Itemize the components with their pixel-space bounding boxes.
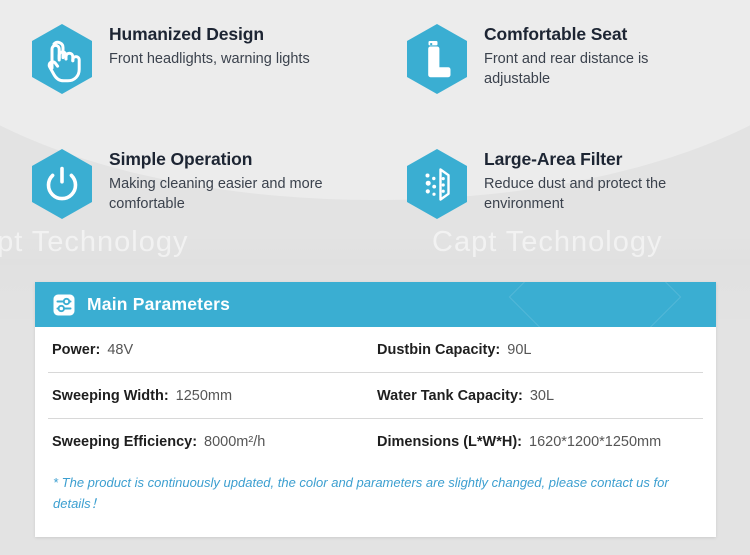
feature-title: Humanized Design xyxy=(109,24,310,46)
param-cell-dimensions: Dimensions (L*W*H): 1620*1200*1250mm xyxy=(373,434,703,450)
feature-description: Front and rear distance is adjustable xyxy=(484,49,699,90)
header-decoration xyxy=(509,282,682,327)
param-label: Water Tank Capacity: xyxy=(377,388,523,404)
feature-text: Comfortable Seat Front and rear distance… xyxy=(484,22,699,90)
feature-title: Large-Area Filter xyxy=(484,149,699,171)
param-value: 1620*1200*1250mm xyxy=(529,434,661,450)
param-value: 48V xyxy=(107,342,133,358)
feature-text: Humanized Design Front headlights, warni… xyxy=(109,22,310,69)
feature-grid: Humanized Design Front headlights, warni… xyxy=(0,0,750,250)
feature-title: Simple Operation xyxy=(109,149,324,171)
param-label: Dustbin Capacity: xyxy=(377,342,500,358)
feature-text: Large-Area Filter Reduce dust and protec… xyxy=(484,147,699,215)
feature-description: Reduce dust and protect the environment xyxy=(484,174,699,215)
param-value: 8000m²/h xyxy=(204,434,265,450)
main-parameters-title: Main Parameters xyxy=(87,294,230,315)
table-row: Sweeping Efficiency: 8000m²/h Dimensions… xyxy=(48,419,703,464)
param-cell-sweeping-width: Sweeping Width: 1250mm xyxy=(48,388,373,404)
sliders-icon xyxy=(52,293,76,317)
feature-card-comfortable-seat: Comfortable Seat Front and rear distance… xyxy=(375,0,750,125)
param-cell-power: Power: 48V xyxy=(48,342,373,358)
feature-description: Front headlights, warning lights xyxy=(109,49,310,70)
parameters-note: * The product is continuously updated, t… xyxy=(35,464,716,515)
table-row: Sweeping Width: 1250mm Water Tank Capaci… xyxy=(48,373,703,419)
param-label: Power: xyxy=(52,342,100,358)
feature-card-humanized-design: Humanized Design Front headlights, warni… xyxy=(0,0,375,125)
feature-card-simple-operation: Simple Operation Making cleaning easier … xyxy=(0,125,375,250)
param-label: Dimensions (L*W*H): xyxy=(377,434,522,450)
main-parameters-header: Main Parameters xyxy=(35,282,716,327)
feature-description: Making cleaning easier and more comforta… xyxy=(109,174,324,215)
param-cell-water-tank-capacity: Water Tank Capacity: 30L xyxy=(373,388,703,404)
param-value: 30L xyxy=(530,388,554,404)
power-button-icon xyxy=(28,147,96,221)
table-row: Power: 48V Dustbin Capacity: 90L xyxy=(48,327,703,373)
param-label: Sweeping Width: xyxy=(52,388,169,404)
feature-text: Simple Operation Making cleaning easier … xyxy=(109,147,324,215)
hand-touch-icon xyxy=(28,22,96,96)
seat-icon xyxy=(403,22,471,96)
main-parameters-panel: Main Parameters Power: 48V Dustbin Capac… xyxy=(35,282,716,537)
param-label: Sweeping Efficiency: xyxy=(52,434,197,450)
feature-title: Comfortable Seat xyxy=(484,24,699,46)
main-parameters-body: Power: 48V Dustbin Capacity: 90L Sweepin… xyxy=(35,327,716,464)
param-value: 90L xyxy=(507,342,531,358)
param-cell-sweeping-efficiency: Sweeping Efficiency: 8000m²/h xyxy=(48,434,373,450)
param-cell-dustbin-capacity: Dustbin Capacity: 90L xyxy=(373,342,703,358)
feature-card-large-area-filter: Large-Area Filter Reduce dust and protec… xyxy=(375,125,750,250)
param-value: 1250mm xyxy=(176,388,232,404)
filter-icon xyxy=(403,147,471,221)
